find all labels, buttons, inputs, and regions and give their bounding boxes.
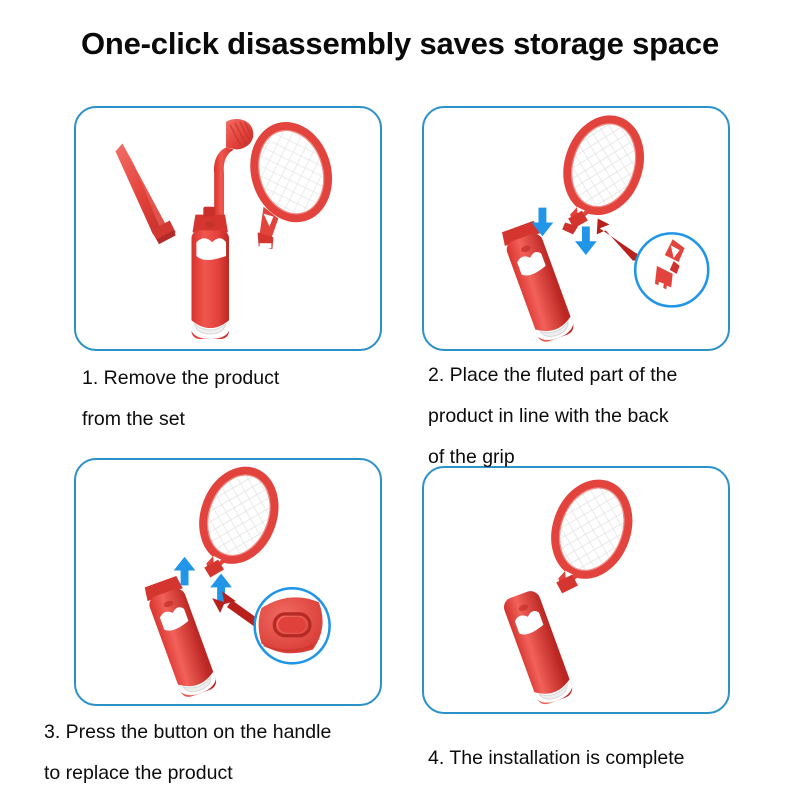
step-3-illustration: [76, 460, 380, 705]
step-4-illustration: [424, 468, 728, 713]
fluted-connector-detail-circle: [635, 233, 708, 306]
release-button-detail-circle: [255, 588, 330, 663]
step-3-panel: [74, 458, 382, 706]
page-title: One-click disassembly saves storage spac…: [0, 26, 800, 62]
step-1-caption: 1. Remove the product from the set: [82, 358, 402, 440]
blue-down-arrow-right: [575, 226, 597, 255]
step-2-illustration: [424, 108, 728, 350]
controller-grip: [143, 575, 219, 699]
assembled-racket-controller: [501, 474, 640, 707]
step-4-caption: 4. The installation is complete: [428, 738, 798, 779]
step-2-caption: 2. Place the fluted part of the product …: [428, 355, 758, 478]
racket-upper-assembly: [556, 110, 650, 234]
step-3-caption: 3. Press the button on the handle to rep…: [44, 712, 424, 794]
step-2-panel: [422, 106, 730, 351]
step-1-panel: [74, 106, 382, 351]
controller-grip: [500, 220, 576, 344]
controller-grip: [191, 207, 229, 339]
step-4-panel: [422, 466, 730, 714]
golf-club-attachment: [212, 119, 253, 230]
racket-upper-assembly: [192, 461, 286, 577]
tennis-racket-attachment: [244, 118, 338, 249]
step-1-illustration: [76, 108, 380, 350]
sword-attachment: [115, 144, 175, 245]
